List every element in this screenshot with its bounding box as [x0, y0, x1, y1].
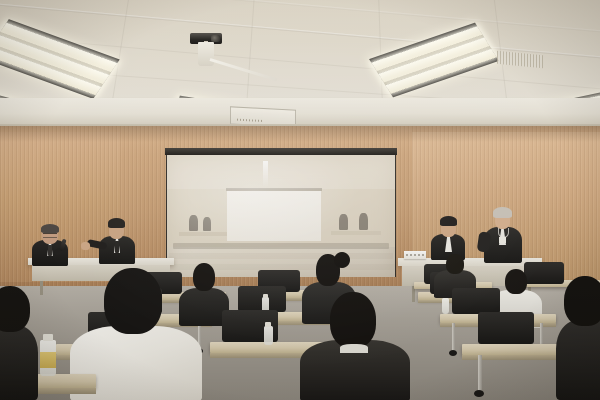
panelist-2-hair [108, 218, 125, 228]
attendee-left-edge [0, 286, 38, 400]
panelist-1-glasses-icon [43, 233, 57, 238]
chair-row2-c [478, 312, 534, 344]
water-bottle-cap-row3-b [263, 294, 268, 298]
attendee-front-dark-suit [300, 290, 410, 400]
panelist-2-hand [81, 242, 90, 250]
conference-room-photo [0, 0, 600, 400]
wall-top-shadow [0, 126, 600, 142]
badge-icon [499, 237, 506, 243]
attendee-fd-head [330, 292, 376, 348]
panelist-2-tie [115, 241, 119, 253]
attendee-re-torso [556, 320, 600, 400]
caster-row3-c [449, 350, 457, 356]
screen-glare [167, 155, 395, 277]
projection-screen [167, 155, 395, 277]
desk-leg-row2-c [478, 355, 482, 391]
panelist-gesturing [95, 216, 141, 264]
panelist-with-microphone [30, 222, 70, 264]
screen-housing [165, 148, 397, 155]
attendee-br-head [446, 254, 464, 274]
water-bottle-row3-c [442, 298, 449, 314]
panelist-standing-right [482, 206, 526, 264]
caster-row2-c [474, 390, 484, 397]
attendee-le-head [0, 286, 30, 332]
chair-row3-c [452, 288, 500, 314]
panelist-1-tie [48, 245, 52, 256]
attendee-re-head [564, 276, 600, 326]
ceiling-light-left-front [0, 19, 120, 99]
water-bottle-cap-row2-a [265, 322, 271, 327]
ceiling-conduit [210, 58, 278, 81]
panelist-4-hair [493, 207, 512, 218]
attendee-w-hairtie [334, 252, 350, 268]
water-bottle-label-foreground [40, 352, 56, 368]
water-bottle-row2-a [264, 326, 273, 345]
attendee-mr-head [505, 269, 527, 294]
ceiling-light-right-front [369, 23, 499, 98]
water-bottle-cap-foreground [43, 334, 53, 341]
attendee-right-edge [556, 276, 600, 400]
nameplate-right [404, 251, 426, 259]
panelist-3-hair [440, 216, 457, 226]
projector-mount [198, 42, 214, 66]
projector-lens-icon [211, 35, 220, 42]
attendee-fd-collar [340, 344, 368, 353]
panelist-1-hair [41, 224, 59, 233]
attendee-fw-head [104, 268, 162, 334]
panel-table-left-leg [40, 281, 43, 295]
hvac-vent-icon [497, 51, 543, 68]
ceiling-soffit [0, 98, 600, 126]
attendee-le-torso [0, 326, 38, 400]
desk-leg-row3-c [452, 323, 455, 351]
